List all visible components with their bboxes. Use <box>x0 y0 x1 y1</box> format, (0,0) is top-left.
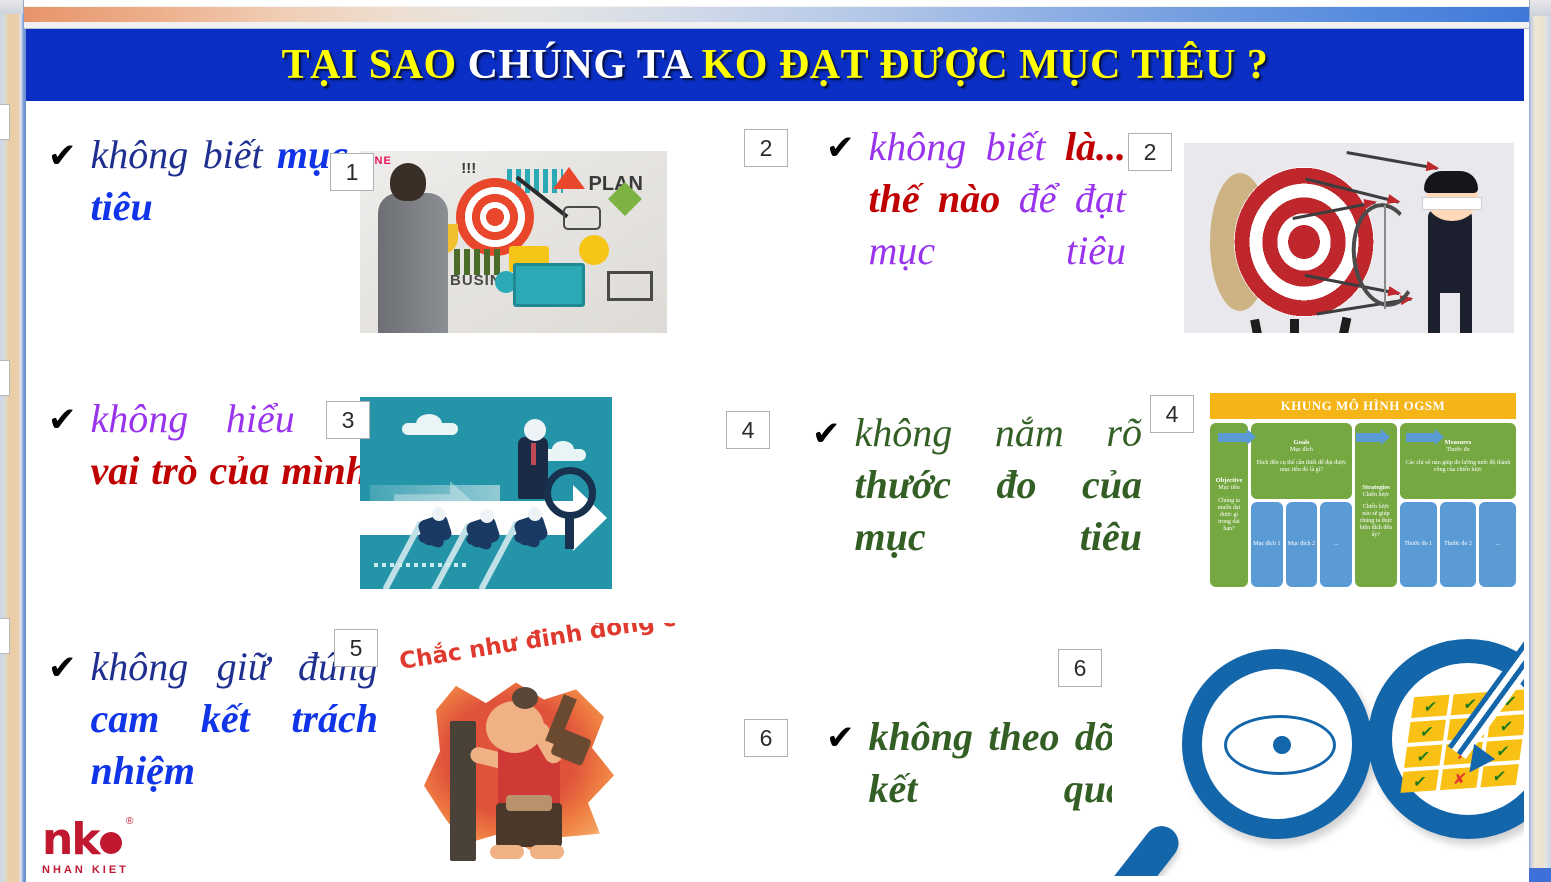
ogsm-measures-desc: Các chỉ số nào giúp đo lường mức độ thàn… <box>1403 460 1513 474</box>
ogsm-flow-arrow <box>1356 433 1382 442</box>
ogsm-body: Objective Mục tiêu Chúng ta muốn đạt đượ… <box>1210 423 1516 587</box>
right-scroll-rail[interactable] <box>1529 0 1551 882</box>
ogsm-strategies-card: Strategies Chiến lược Chiến lược nào sẽ … <box>1355 423 1397 587</box>
bullet-text-6: không theo dõi kết quả <box>869 711 1127 815</box>
laptop-icon <box>513 263 585 307</box>
slide-title-bar: TẠI SAO CHÚNG TA KO ĐẠT ĐƯỢC MỤC TIÊU ? <box>26 29 1524 101</box>
checkmark-icon-1: ✔ <box>48 139 77 173</box>
checklist-cell: ✔ <box>1408 720 1447 743</box>
logo-mark: nk <box>42 814 99 865</box>
archer-hair <box>1424 171 1478 193</box>
leader-head <box>524 419 546 441</box>
left-rail-cap <box>0 0 24 14</box>
ogsm-col-strategies: Strategies Chiến lược Chiến lược nào sẽ … <box>1355 423 1397 587</box>
slide-canvas: TẠI SAO CHÚNG TA KO ĐẠT ĐƯỢC MỤC TIÊU ? … <box>24 29 1529 882</box>
image-folk-hammer: Chắc như đinh đóng cột <box>378 623 678 882</box>
bullet-item-2: ✔ không biết là... thế nào để đạt mục ti… <box>826 121 1126 277</box>
wooden-post <box>450 721 476 861</box>
offslide-shape-stub-2 <box>0 360 10 396</box>
target-leg <box>1290 319 1299 333</box>
ogsm-objective-title-vi: Mục tiêu <box>1213 485 1245 492</box>
badge-3[interactable]: 3 <box>326 401 370 439</box>
bullet-1-seg-1: không biết <box>91 132 277 177</box>
mini-bar-chart-icon <box>454 249 500 275</box>
ogsm-objective-card: Objective Mục tiêu Chúng ta muốn đạt đượ… <box>1210 423 1248 587</box>
eye-iris <box>1264 727 1300 763</box>
blindfold-shape <box>1422 197 1482 210</box>
figure-hair-bun <box>512 687 538 709</box>
image-rowing-team <box>360 397 612 589</box>
ogsm-goals-children: Mục đích 1 Mục đích 2 ... <box>1251 502 1352 587</box>
badge-2-right[interactable]: 2 <box>1128 133 1172 171</box>
title-word-3: KO ĐẠT ĐƯỢC MỤC TIÊU ? <box>702 42 1269 88</box>
ogsm-goals-title-vi: Mục đích <box>1290 447 1313 453</box>
rower-figure <box>514 505 548 549</box>
cloud-icon <box>402 423 458 435</box>
ogsm-flow-arrow <box>1406 433 1436 442</box>
bullet-2-seg-1: không biết <box>869 124 1065 169</box>
ogsm-col-goals: Goals Mục đích Đích đến cụ thể cần thiết… <box>1251 423 1352 587</box>
ogsm-goals-desc: Đích đến cụ thể cần thiết để đạt được mụ… <box>1254 460 1349 474</box>
ogsm-measure-item: Thước đo 2 <box>1440 502 1477 587</box>
offslide-shape-stub-3 <box>0 618 10 654</box>
image-magnifier-checklist: ✔ ✔ ✔ ✔ ✘ ✔ ✔ ✘ ✔ ✔ ✘ ✔ <box>1112 621 1524 882</box>
ogsm-flow-arrow <box>1218 433 1248 442</box>
target-icon <box>456 178 534 256</box>
bullet-5-seg-2: cam kết trách nhiệm <box>91 696 379 793</box>
image-blindfolded-archer <box>1184 143 1514 333</box>
ogsm-strategies-title-en: Strategies <box>1358 484 1394 492</box>
logo-name: NHAN KIET <box>42 864 129 876</box>
bullet-item-6: ✔ không theo dõi kết quả <box>826 711 1126 815</box>
badge-2-left[interactable]: 2 <box>744 129 788 167</box>
logo-registered: ® <box>126 816 133 827</box>
ogsm-measure-item: Thước đo 1 <box>1400 502 1437 587</box>
bullet-4-seg-2: thước đo của mục tiêu <box>855 462 1143 559</box>
bullet-4-seg-1: không nắm rõ <box>855 410 1143 455</box>
figure-foot <box>530 845 564 859</box>
badge-6-left[interactable]: 6 <box>744 719 788 757</box>
archery-target <box>1210 167 1360 317</box>
offslide-shape-stub-1 <box>0 104 10 140</box>
page-title: TẠI SAO CHÚNG TA KO ĐẠT ĐƯỢC MỤC TIÊU ? <box>282 41 1269 89</box>
image-ogsm-framework: KHUNG MÔ HÌNH OGSM Objective Mục tiêu Ch… <box>1208 391 1518 589</box>
bullet-3-seg-2: vai trò của mình <box>91 448 369 493</box>
arrow-icon <box>1346 151 1437 170</box>
mountain-icon <box>553 167 585 189</box>
ogsm-strategies-title-vi: Chiến lược <box>1358 492 1394 499</box>
checkmark-icon-3: ✔ <box>48 403 77 437</box>
checkmark-icon-5: ✔ <box>48 651 77 685</box>
badge-4-right[interactable]: 4 <box>1150 395 1194 433</box>
archer-legs <box>1426 289 1474 333</box>
figure-sash <box>506 795 552 811</box>
logo-dot <box>100 832 122 854</box>
ogsm-col-measures: Measures Thước đo Các chỉ số nào giúp đo… <box>1400 423 1516 587</box>
archer-body <box>1428 209 1472 293</box>
ogsm-measure-item: ... <box>1479 502 1516 587</box>
badge-6-top[interactable]: 6 <box>1058 649 1102 687</box>
dotted-line <box>374 563 470 567</box>
ogsm-goal-item: Mục đích 2 <box>1286 502 1318 587</box>
ogsm-measures-title-vi: Thước đo <box>1446 447 1469 453</box>
figure-foot <box>490 845 524 859</box>
ogsm-goals-card: Goals Mục đích Đích đến cụ thể cần thiết… <box>1251 423 1352 499</box>
ship-wheel-icon <box>544 467 596 519</box>
ogsm-objective-title-en: Objective <box>1213 477 1245 485</box>
presentation-window: TẠI SAO CHÚNG TA KO ĐẠT ĐƯỢC MỤC TIÊU ? … <box>0 0 1551 882</box>
rower-figure <box>466 507 500 551</box>
bullet-6-seg-1: không theo dõi kết quả <box>869 714 1127 811</box>
rower-figure <box>418 505 452 549</box>
bullet-text-2: không biết là... thế nào để đạt mục tiêu <box>869 121 1127 277</box>
ogsm-measures-children: Thước đo 1 Thước đo 2 ... <box>1400 502 1516 587</box>
image5-caption: Chắc như đinh đóng cột <box>398 623 678 701</box>
lightbulb-icon <box>579 235 609 265</box>
right-rail-cap <box>1529 0 1551 16</box>
ogsm-objective-desc: Chúng ta muốn đạt được gì trong dài hạn? <box>1213 498 1245 533</box>
speech-bubble-icon <box>563 206 601 230</box>
bullet-item-4: ✔ không nắm rõ thước đo của mục tiêu <box>812 407 1142 563</box>
right-rail-bottom-cap <box>1529 868 1551 882</box>
company-logo: nk ® NHAN KIET <box>42 814 152 878</box>
checkmark-icon-6: ✔ <box>826 721 855 755</box>
target-leg <box>1330 317 1352 333</box>
ogsm-col-objective: Objective Mục tiêu Chúng ta muốn đạt đượ… <box>1210 423 1248 587</box>
slide-content: ✔ không biết mục tiêu 1 ONE !!! PLAN BUS… <box>26 101 1524 882</box>
image-business-plan: ONE !!! PLAN BUSINESS ?! <box>360 151 667 333</box>
ogsm-strategies-desc: Chiến lược nào sẽ giúp chúng ta thực hiệ… <box>1358 504 1394 539</box>
envelope-icon <box>607 271 653 301</box>
title-word-2: CHÚNG TA <box>468 42 702 88</box>
ogsm-goals-title-en: Goals <box>1254 439 1349 447</box>
ogsm-header: KHUNG MÔ HÌNH OGSM <box>1210 393 1516 419</box>
badge-4-left[interactable]: 4 <box>726 411 770 449</box>
bowstring <box>1384 205 1386 309</box>
magnifier-handle <box>1112 819 1185 882</box>
target-leg <box>1250 319 1271 333</box>
image1-exclaim-label: !!! <box>461 160 476 177</box>
businessman-head <box>390 163 426 201</box>
cloud-icon <box>542 449 586 461</box>
slide-bottom-edge <box>26 876 1524 882</box>
bullet-item-3: ✔ không hiểu rõ vai trò của mình <box>48 393 368 497</box>
badge-5[interactable]: 5 <box>334 629 378 667</box>
checkmark-icon-4: ✔ <box>812 417 841 451</box>
ogsm-goal-item: ... <box>1320 502 1352 587</box>
bullet-item-5: ✔ không giữ đúng cam kết trách nhiệm <box>48 641 378 797</box>
checklist-cell: ✔ <box>1400 769 1439 792</box>
title-word-1: TẠI SAO <box>282 42 468 88</box>
ship-wheel-stem <box>565 515 574 549</box>
bullet-item-1: ✔ không biết mục tiêu <box>48 129 348 233</box>
bullet-text-1: không biết mục tiêu <box>91 129 349 233</box>
ribbon-separator <box>24 22 1529 29</box>
checkmark-icon-2: ✔ <box>826 131 855 165</box>
badge-1[interactable]: 1 <box>330 153 374 191</box>
bullet-text-4: không nắm rõ thước đo của mục tiêu <box>855 407 1143 563</box>
toolbar-ribbon[interactable] <box>24 6 1529 22</box>
businessman-body <box>378 193 448 333</box>
ogsm-goal-item: Mục đích 1 <box>1251 502 1283 587</box>
checklist-cell: ✔ <box>1411 695 1450 718</box>
checklist-cell: ✔ <box>1404 745 1443 768</box>
leader-tie <box>531 443 536 465</box>
